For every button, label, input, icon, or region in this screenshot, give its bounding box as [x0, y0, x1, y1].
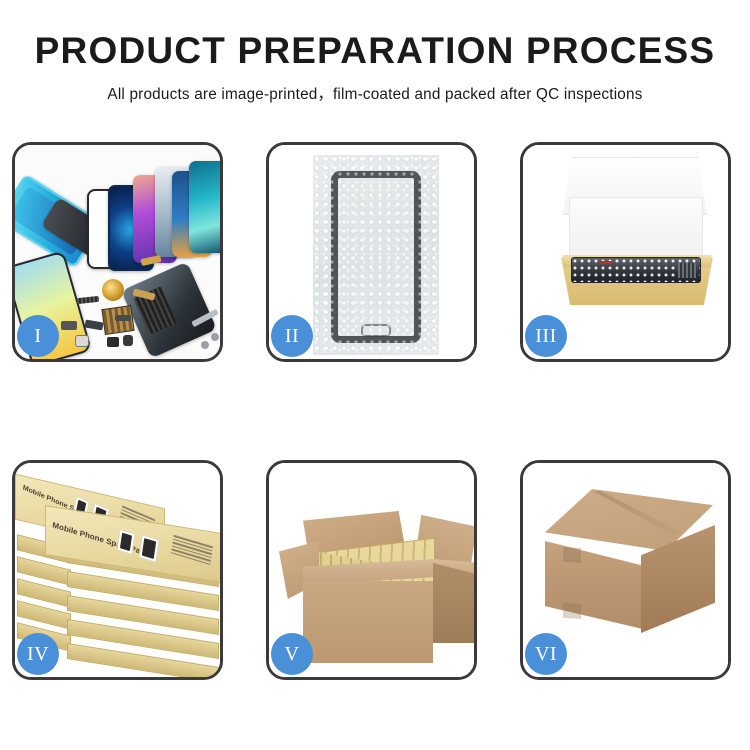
vibrator-part-icon	[61, 321, 77, 330]
button-part-icon	[115, 315, 131, 321]
process-step-panel-3: III	[520, 142, 731, 362]
carton-flap-tab-icon	[563, 547, 581, 563]
process-step-panel-1: I	[12, 142, 223, 362]
carton-front-face-icon	[545, 541, 643, 629]
step-numeral-badge-6: VI	[525, 633, 567, 675]
phone-cyan-screen-icon	[189, 161, 220, 253]
step-numeral-badge-2: II	[271, 315, 313, 357]
coil-part-icon	[102, 279, 124, 301]
carton-flap-tab-icon	[563, 603, 581, 619]
step-numeral-badge-5: V	[271, 633, 313, 675]
packed-screen-icon	[571, 257, 701, 283]
flex-cable-part-icon	[77, 296, 100, 304]
process-step-panel-5: V	[266, 460, 477, 680]
speaker-part-icon	[107, 337, 119, 347]
bubble-texture-overlay	[313, 155, 439, 355]
connector-part-icon	[84, 319, 103, 330]
process-step-panel-4: Mobile Phone Spare Parts Mobile Phone Sp…	[12, 460, 223, 680]
product-preparation-process-page: PRODUCT PREPARATION PROCESS All products…	[0, 0, 750, 750]
screw-part-icon	[201, 341, 209, 349]
step-numeral-badge-4: IV	[17, 633, 59, 675]
carton-front-face-icon	[303, 581, 433, 663]
page-subtitle: All products are image-printed，film-coat…	[0, 82, 750, 104]
box-label-text: Mobile Phone Spare Parts	[52, 521, 151, 559]
step-numeral-badge-3: III	[525, 315, 567, 357]
header: PRODUCT PREPARATION PROCESS All products…	[0, 0, 750, 104]
carton-side-face-icon	[433, 563, 474, 643]
camera-part-icon	[123, 335, 133, 346]
bubble-wrap-sheet-icon	[313, 155, 439, 355]
step-numeral-badge-1: I	[17, 315, 59, 357]
red-label-mark-icon	[600, 261, 612, 264]
process-step-panel-6: VI	[520, 460, 731, 680]
box-phone-thumb-icon	[117, 529, 136, 555]
sim-tray-part-icon	[75, 335, 89, 347]
screw-part-icon	[211, 333, 219, 341]
page-title: PRODUCT PREPARATION PROCESS	[0, 32, 750, 71]
process-step-panel-2: II	[266, 142, 477, 362]
process-step-grid: I II	[12, 142, 731, 680]
box-spec-lines	[171, 535, 213, 565]
box-phone-thumb-icon	[138, 534, 159, 563]
